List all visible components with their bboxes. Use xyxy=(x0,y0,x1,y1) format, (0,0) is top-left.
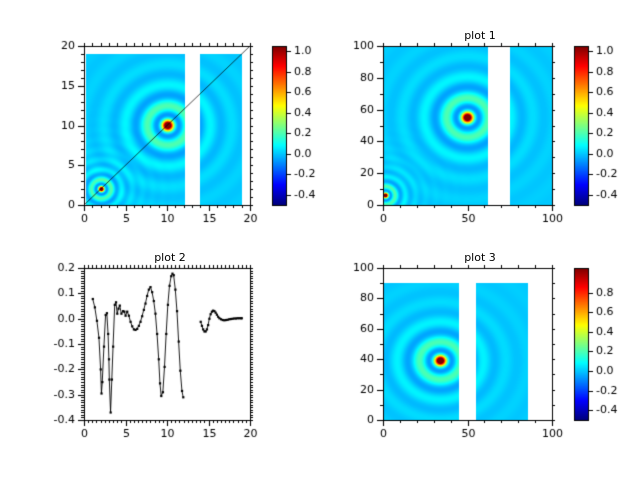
plot-render-1 xyxy=(320,18,640,240)
plot-title-2: plot 2 xyxy=(20,251,320,264)
plot-render-0 xyxy=(20,18,320,240)
plot-panel-2[interactable]: plot 2 xyxy=(20,240,320,480)
plot-title-3: plot 3 xyxy=(320,251,640,264)
plot-panel-3[interactable]: plot 3 xyxy=(320,240,640,480)
plot-title-1: plot 1 xyxy=(320,29,640,42)
plot-panel-1[interactable]: plot 1 xyxy=(320,18,640,240)
figure-canvas-area: plot 1 plot 2 plot 3 xyxy=(0,0,640,480)
plot-render-3 xyxy=(320,240,640,480)
plot-panel-0[interactable] xyxy=(20,18,320,240)
plot-render-2 xyxy=(20,240,320,480)
